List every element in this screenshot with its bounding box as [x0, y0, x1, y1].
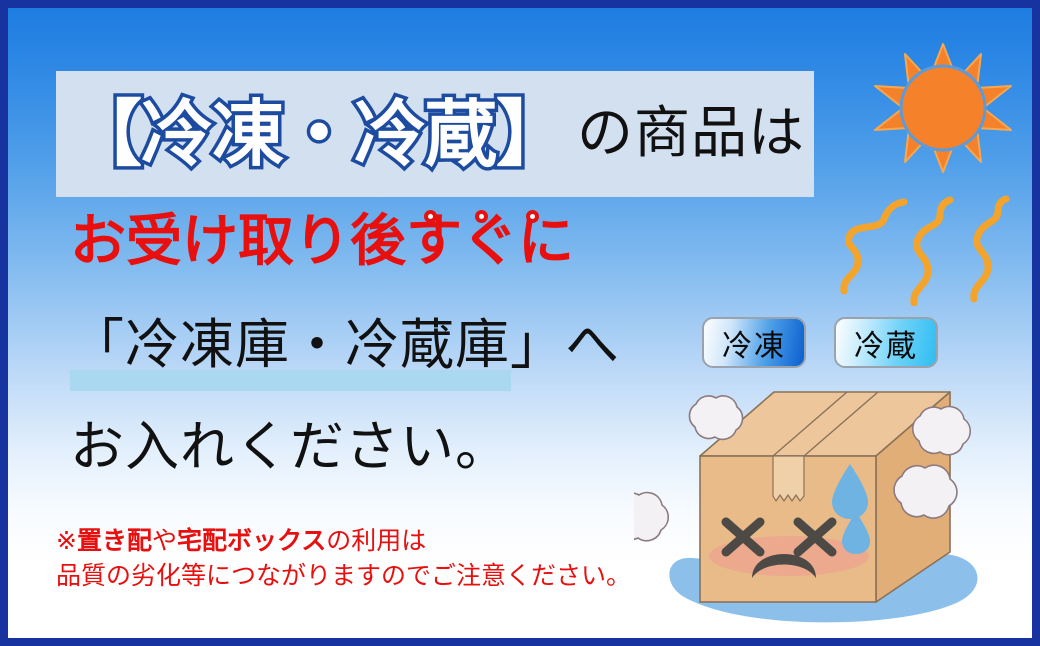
body-line-1: 「冷凍庫・冷蔵庫」へ [70, 318, 620, 372]
footnote-line-2: 品質の劣化等につながりますのでご注意ください。 [56, 559, 631, 594]
body-line-2-text: お入れください。 [70, 420, 510, 474]
emphasis-dot [424, 210, 437, 223]
header-tail-text: の商品は [577, 106, 805, 162]
steam-puff-icon [913, 407, 970, 455]
footnote-mid: や [152, 526, 177, 555]
heat-wave-icon [836, 191, 1026, 306]
box-tape-strip [773, 456, 804, 501]
badge-frozen[interactable]: 冷凍 [702, 317, 806, 368]
sad-cardboard-box-icon [634, 380, 994, 638]
footnote-bold-takuhai-box: 宅配ボックス [177, 526, 326, 555]
footnote-suffix: の利用は [326, 526, 426, 555]
header-emphasis-text: 【冷凍・冷蔵】 [70, 98, 567, 170]
badge-chilled[interactable]: 冷蔵 [834, 317, 938, 368]
body-line-1-text: 「冷凍庫・冷蔵庫」へ [70, 313, 620, 376]
header-title: 【冷凍・冷蔵】 の商品は [70, 76, 830, 192]
emphasis-dot [526, 210, 539, 223]
steam-puff-icon [894, 465, 957, 518]
red-instruction-line: お受け取り後すぐに [70, 214, 574, 270]
temperature-badges: 冷凍 冷蔵 [702, 317, 938, 368]
footnote-prefix: ※ [56, 526, 77, 555]
promo-banner-image: 【冷凍・冷蔵】 の商品は お受け取り後すぐに 「冷凍庫・冷蔵庫」へ お入れくださ… [0, 0, 1040, 646]
sun-icon [873, 38, 1013, 178]
footnote-line-1: ※置き配や宅配ボックスの利用は [56, 524, 631, 559]
emphasis-dots-group [424, 210, 539, 223]
emphasis-dot [475, 210, 488, 223]
footnote-warning: ※置き配や宅配ボックスの利用は 品質の劣化等につながりますのでご注意ください。 [56, 524, 631, 593]
footnote-bold-okihai: 置き配 [77, 526, 152, 555]
sky-gradient-frame: 【冷凍・冷蔵】 の商品は お受け取り後すぐに 「冷凍庫・冷蔵庫」へ お入れくださ… [0, 0, 1040, 646]
steam-puff-icon [689, 396, 742, 439]
steam-puff-icon [634, 493, 668, 541]
